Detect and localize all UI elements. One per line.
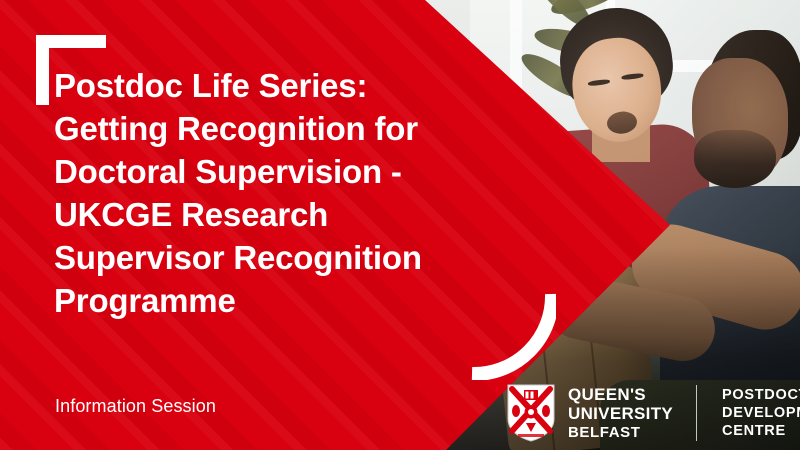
banner-subtitle: Information Session bbox=[55, 396, 216, 417]
university-name-line-2: UNIVERSITY bbox=[568, 404, 673, 423]
centre-name-line-3: CENTRE bbox=[722, 422, 800, 440]
event-banner: Postdoc Life Series: Getting Recognition… bbox=[0, 0, 800, 450]
university-name-line-1: QUEEN'S bbox=[568, 385, 673, 404]
title-line-2: Getting Recognition for bbox=[54, 107, 524, 150]
centre-name-line-2: DEVELOPMENT bbox=[722, 404, 800, 422]
banner-title: Postdoc Life Series: Getting Recognition… bbox=[54, 64, 524, 322]
title-line-1: Postdoc Life Series: bbox=[54, 64, 524, 107]
centre-name-line-1: POSTDOCTORAL bbox=[722, 386, 800, 404]
title-line-5: Supervisor Recognition bbox=[54, 236, 524, 279]
queens-university-crest-icon bbox=[506, 383, 556, 443]
university-name-line-3: BELFAST bbox=[568, 423, 673, 442]
logo-divider bbox=[696, 385, 697, 441]
title-line-6: Programme bbox=[54, 279, 524, 322]
title-line-3: Doctoral Supervision - bbox=[54, 150, 524, 193]
centre-name: POSTDOCTORAL DEVELOPMENT CENTRE bbox=[722, 386, 800, 440]
corner-bracket-vertical-bar bbox=[36, 35, 49, 105]
university-name: QUEEN'S UNIVERSITY BELFAST bbox=[568, 385, 673, 442]
logo-lockup: QUEEN'S UNIVERSITY BELFAST POSTDOCTORAL … bbox=[506, 383, 800, 443]
title-line-4: UKCGE Research bbox=[54, 193, 524, 236]
